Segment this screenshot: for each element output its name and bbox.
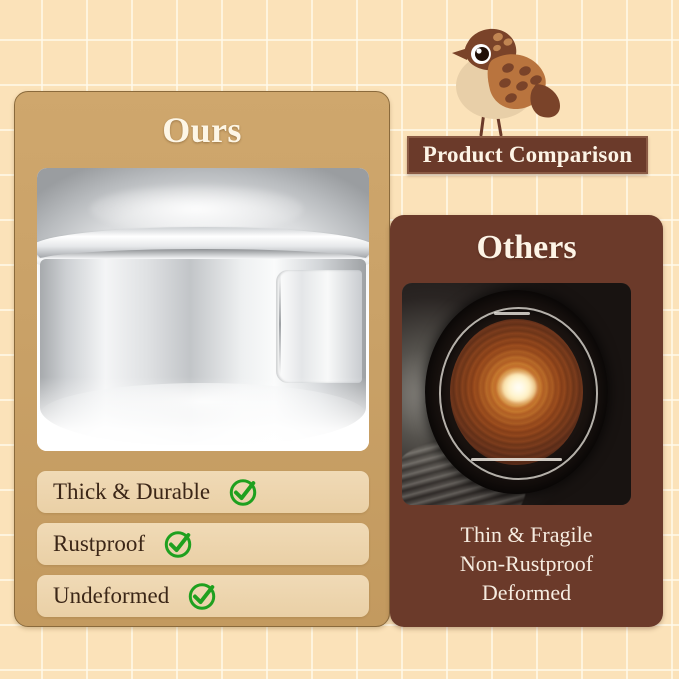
banner-title: Product Comparison [423,142,633,168]
others-product-photo [402,283,631,505]
feature-row: Thick & Durable [37,471,369,513]
product-comparison-infographic: Ours Thick & Durable Rustproof [0,0,679,679]
others-caption-list: Thin & Fragile Non-Rustproof Deformed [390,520,663,607]
others-caption-line: Deformed [390,578,663,607]
feature-row: Undeformed [37,575,369,617]
ours-panel: Ours Thick & Durable Rustproof [14,91,390,627]
pot-handle-seam [279,273,281,375]
photo-bottom-fade [37,377,369,451]
others-title: Others [390,229,663,267]
feature-label: Thick & Durable [53,479,210,505]
feature-label: Rustproof [53,531,145,557]
check-circle-icon [163,529,193,559]
ours-feature-list: Thick & Durable Rustproof Undeformed [37,471,369,627]
others-caption-line: Non-Rustproof [390,549,663,578]
pot-lid-highlight [90,185,302,233]
check-circle-icon [228,477,258,507]
check-circle-icon [187,581,217,611]
sparrow-bird-svg [432,12,562,142]
rim-highlight-top [494,312,531,315]
feature-row: Rustproof [37,523,369,565]
ours-product-photo [37,168,369,451]
sparrow-bird-icon [432,12,562,142]
light-reflection-spot [500,372,537,403]
pot-handle-shape [276,270,362,383]
others-caption-line: Thin & Fragile [390,520,663,549]
ours-title: Ours [15,109,389,151]
feature-label: Undeformed [53,583,169,609]
product-comparison-banner: Product Comparison [407,136,648,174]
rim-highlight-bottom [471,458,563,461]
others-panel: Others Thin & Fragile Non-Rustproof Defo… [390,215,663,627]
